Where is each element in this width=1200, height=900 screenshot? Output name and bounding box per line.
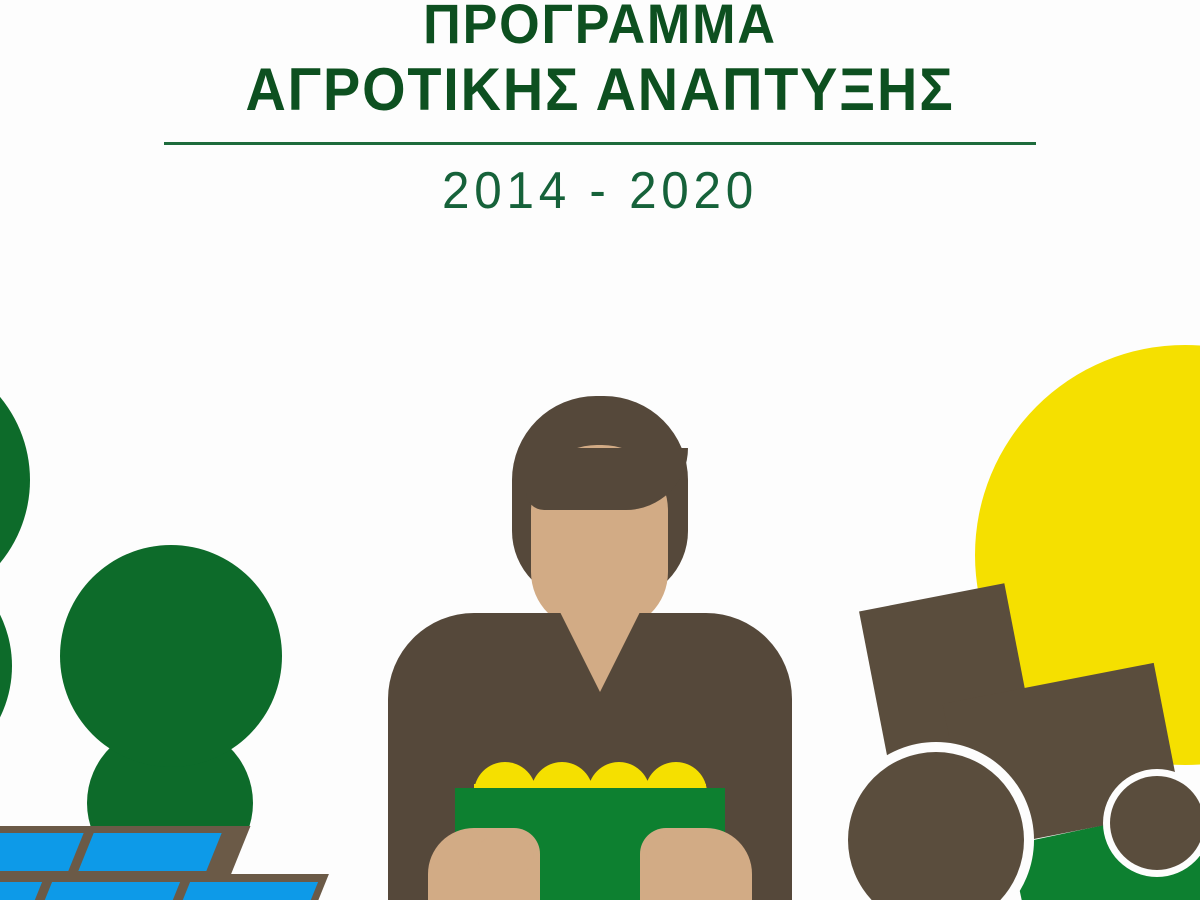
poster-canvas: ΠΡΟΓΡΑΜΜΑ ΑΓΡΟΤΙΚΗΣ ΑΝΑΠΤΥΞΗΣ 2014 - 202… [0,0,1200,900]
solar-cell [36,882,180,900]
tree-canopy-upper [0,350,30,610]
farmer-thumb-right [646,838,702,874]
solar-cell [78,833,221,871]
solar-cell [174,882,318,900]
farmer-thumb-left [478,838,534,874]
page-subtitle-years: 2014 - 2020 [30,161,1170,221]
tree-canopy-upper [60,545,282,767]
solar-cell [0,882,42,900]
title-divider [164,142,1036,145]
poster-header: ΠΡΟΓΡΑΜΜΑ ΑΓΡΟΤΙΚΗΣ ΑΝΑΠΤΥΞΗΣ 2014 - 202… [0,0,1200,221]
page-title-line-1: ΠΡΟΓΡΑΜΜΑ [42,0,1158,52]
tractor-wheel-small [1110,776,1200,870]
tree-canopy-lower [0,550,12,782]
page-title-line-2: ΑΓΡΟΤΙΚΗΣ ΑΝΑΠΤΥΞΗΣ [42,60,1158,120]
